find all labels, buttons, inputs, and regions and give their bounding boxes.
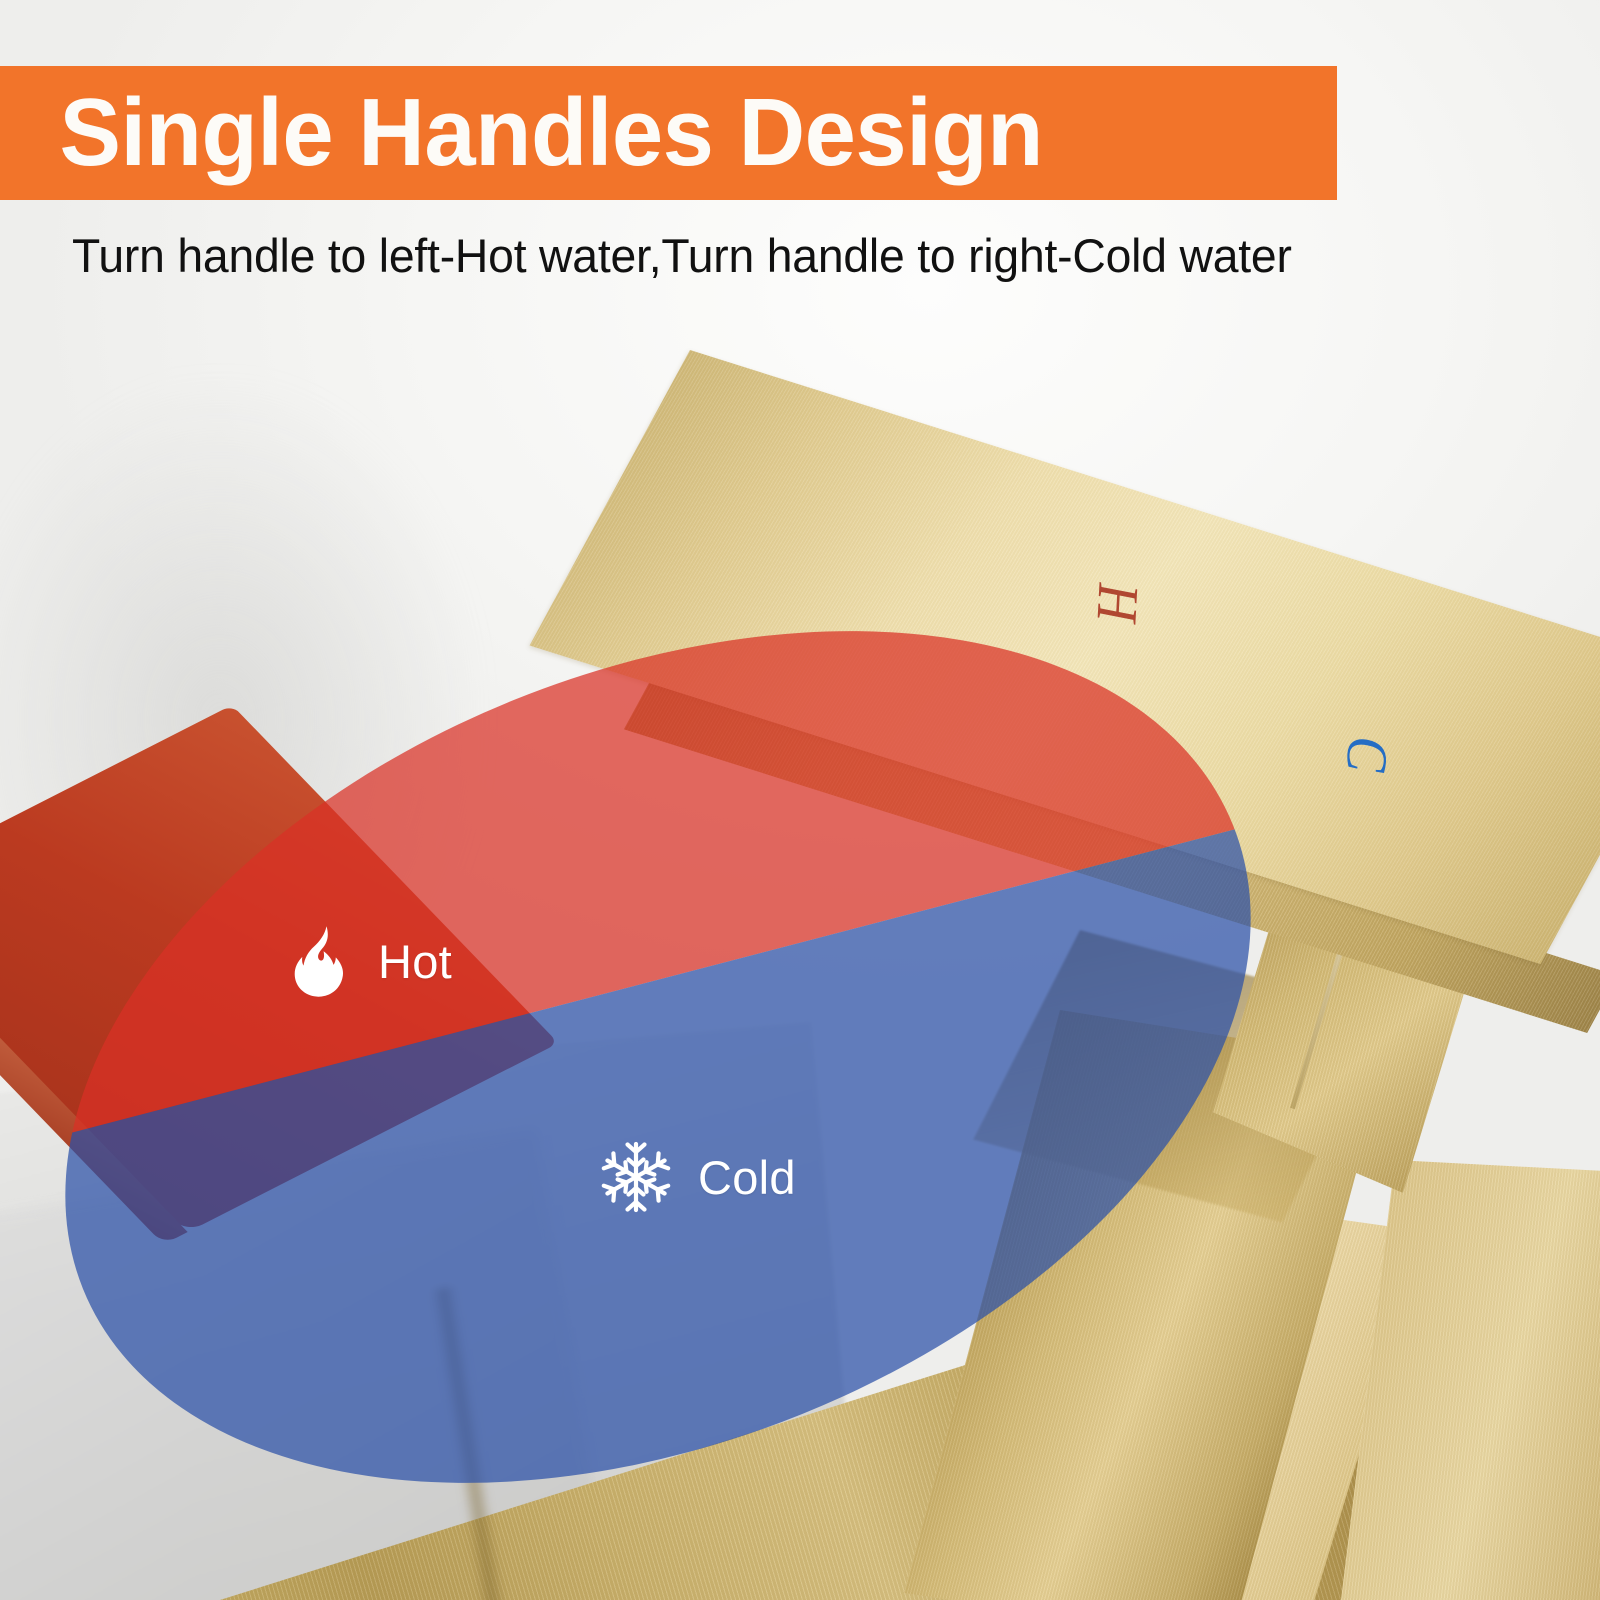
subtitle-text: Turn handle to left-Hot water,Turn handl… (72, 228, 1292, 283)
page-title: Single Handles Design (0, 85, 1043, 181)
cold-label-group: Cold (600, 1140, 796, 1214)
faucet-spout-top-face (530, 350, 1600, 964)
cold-label-text: Cold (698, 1150, 796, 1205)
header-banner: Single Handles Design (0, 66, 1337, 200)
hot-label-group: Hot (290, 925, 452, 997)
snowflake-icon (600, 1140, 672, 1214)
product-marketing-image: H C Hot (0, 0, 1600, 1600)
hot-label-text: Hot (378, 934, 452, 989)
flame-icon (290, 925, 352, 997)
